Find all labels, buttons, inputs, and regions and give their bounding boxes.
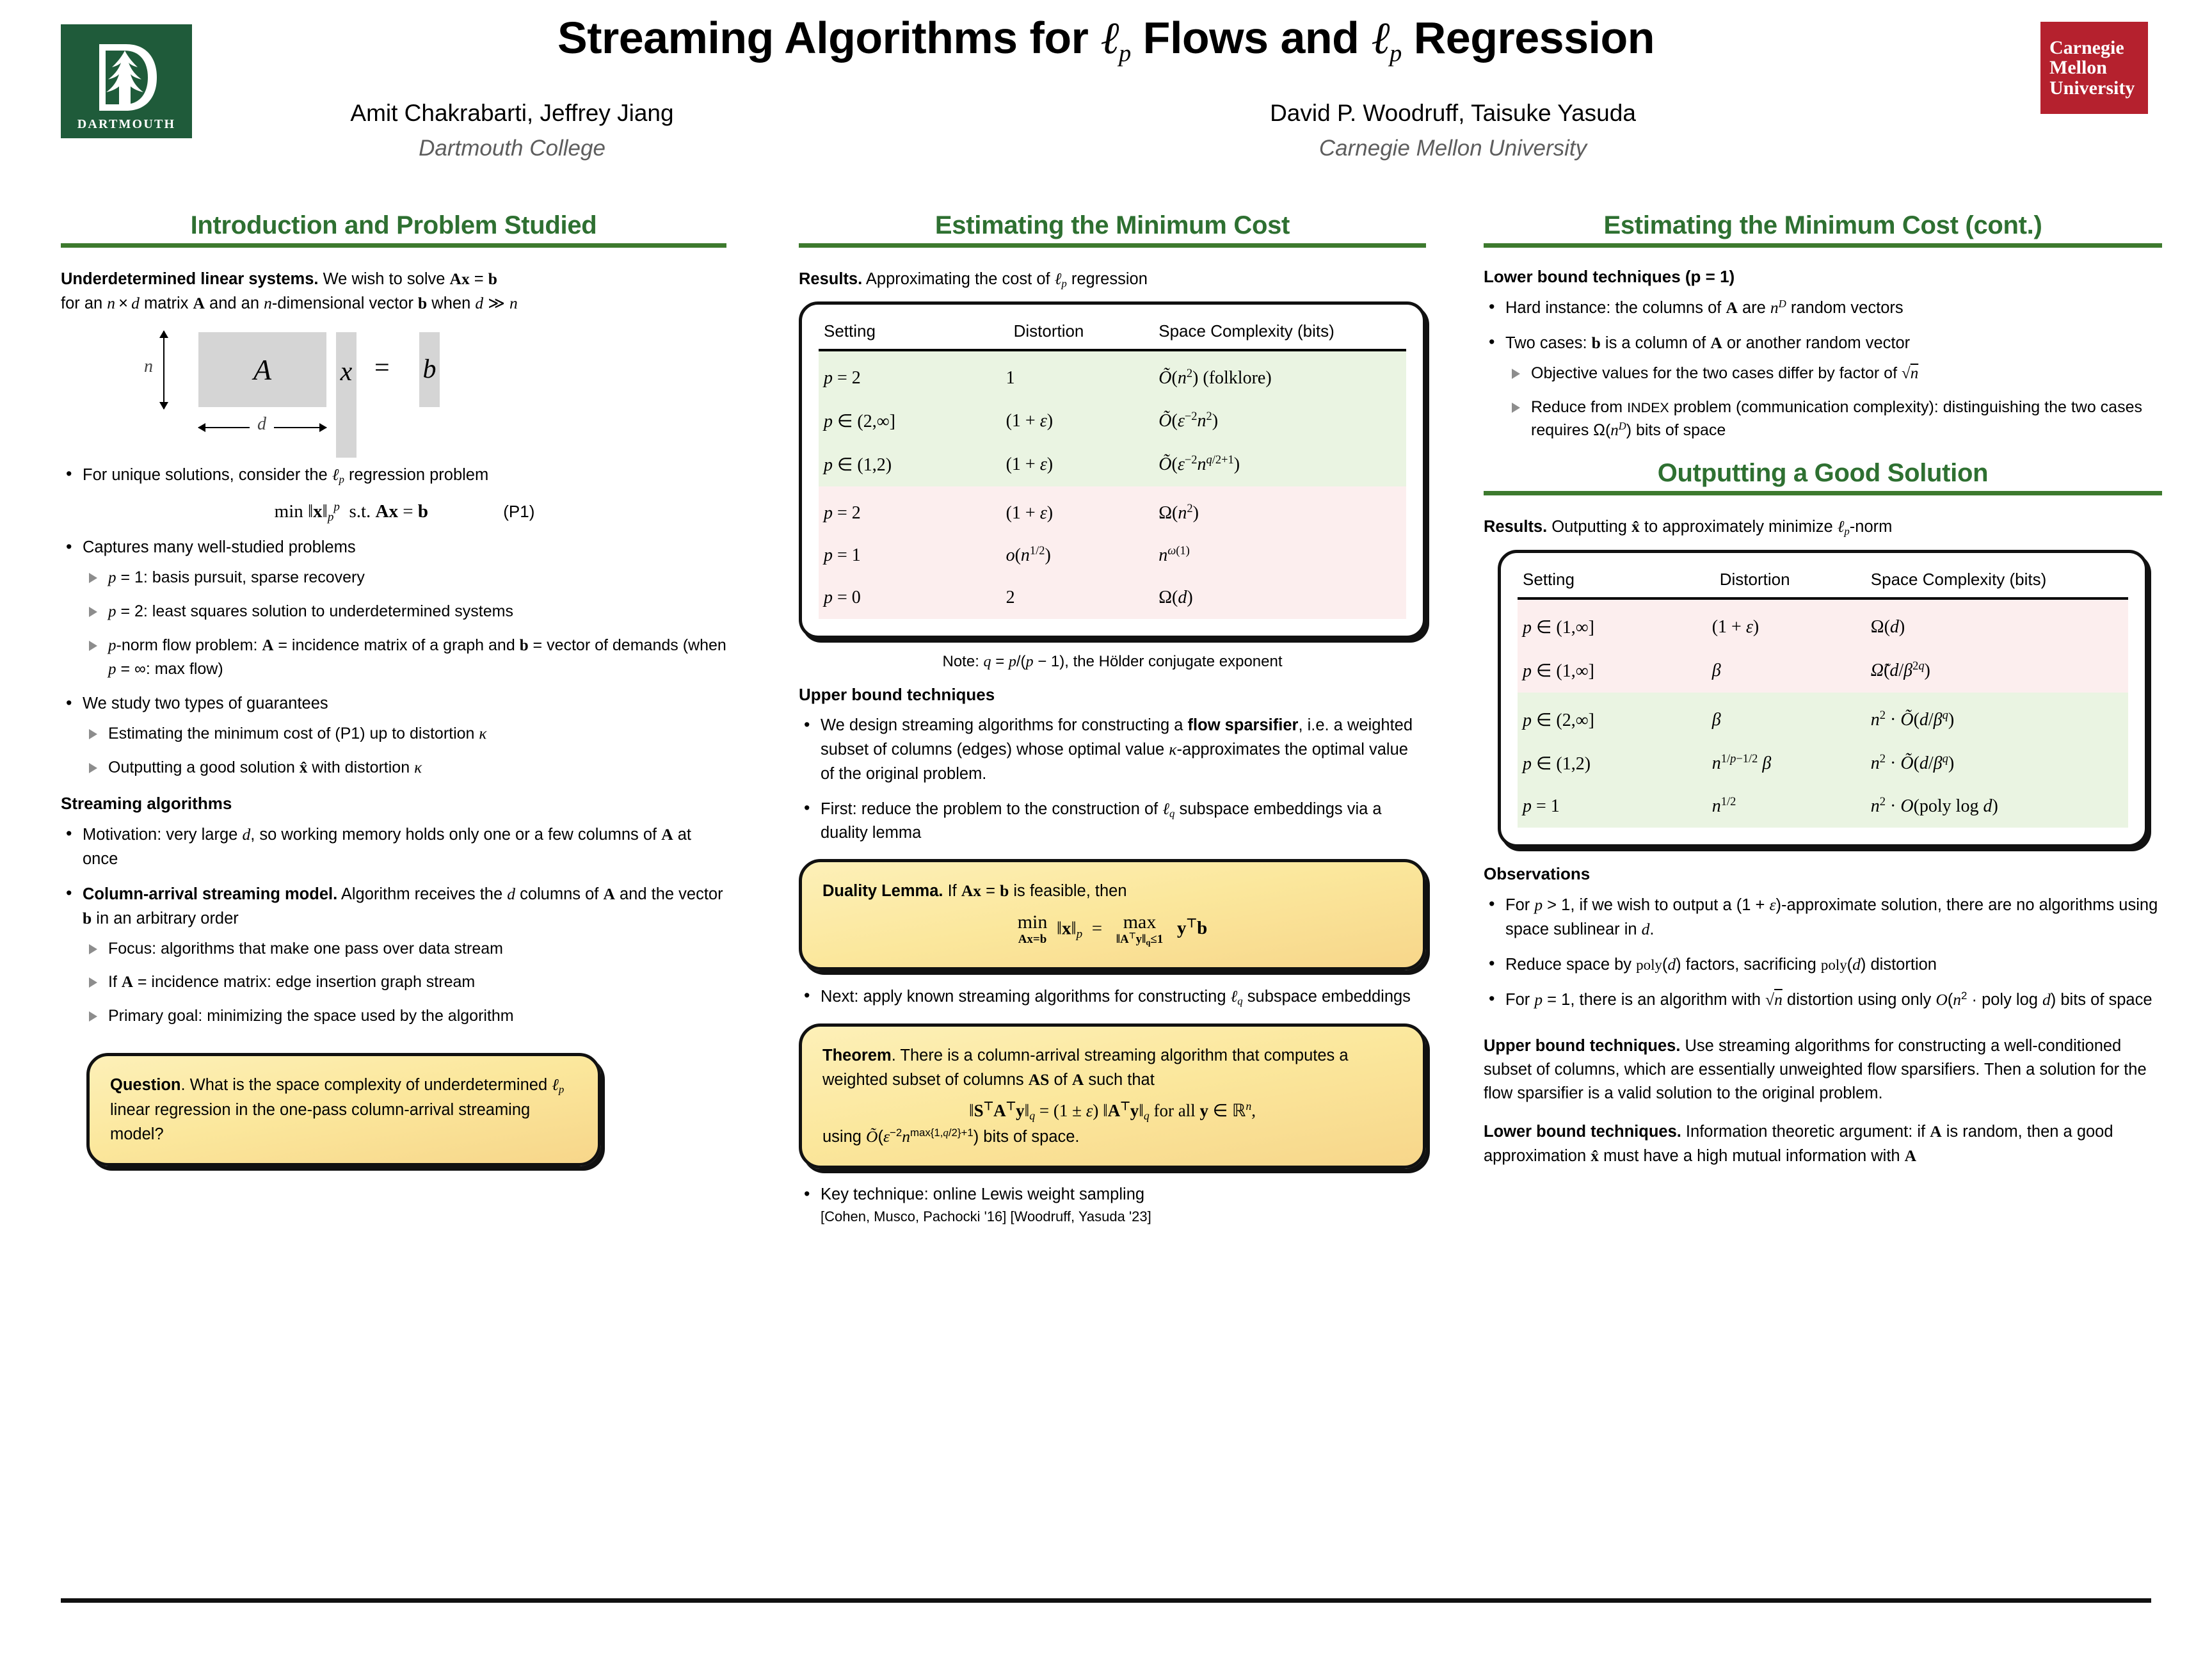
cell-space: n2 · Õ(d/βq) [1866,742,2128,785]
cell-space: Ω(d) [1866,598,2128,649]
paragraph-results-output: Results. Outputting x̂ to approximately … [1484,515,2162,539]
n-dimension-arrow-icon [163,331,164,409]
paragraph-underdetermined: Underdetermined linear systems. We wish … [61,267,726,316]
bullet-captures-label: Captures many well-studied problems [83,538,356,556]
section-rule [1484,491,2162,495]
cell-distortion: 2 [1001,577,1154,619]
callout-question: Question. What is the space complexity o… [86,1053,601,1166]
list-item: We study two types of guarantees Estimat… [61,692,726,780]
column-header-setting: Setting [819,319,1001,350]
table-row: p = 1 n1/2 n2 · O(poly log d) [1518,785,2128,828]
vector-x-label: x [335,357,358,387]
cell-distortion: o(n1/2) [1001,534,1154,577]
cell-space: Ω(n2) [1153,486,1406,534]
label-lower-bound-techniques: Lower bound techniques. [1484,1123,1681,1141]
table-header-row: Setting Distortion Space Complexity (bit… [819,319,1406,350]
column-header-space: Space Complexity (bits) [1866,567,2128,598]
list-item: For unique solutions, consider the ℓp re… [61,463,726,525]
cell-space: Ω̃(d/β2q) [1866,649,2128,693]
paragraph-lower-bound-output: Lower bound techniques. Information theo… [1484,1119,2162,1168]
page-title: Streaming Algorithms for ℓp Flows and ℓp… [0,15,2212,67]
equation-tag-p1: (P1) [503,502,534,521]
cell-space: Õ(ε−2nq/2+1) [1153,443,1406,486]
authors-cmu: David P. Woodruff, Taisuke Yasuda [1114,100,1792,127]
cell-setting: p = 0 [819,577,1001,619]
sublist-model: Focus: algorithms that make one pass ove… [83,937,726,1027]
cell-distortion: n1/2 [1707,785,1866,828]
list-item: Column-arrival streaming model. Algorith… [61,882,726,1027]
cell-distortion: n1/p−1/2 β [1707,742,1866,785]
cell-distortion: β [1707,693,1866,742]
cell-setting: p = 1 [819,534,1001,577]
cell-space: nω(1) [1153,534,1406,577]
d-dimension-label: d [250,414,274,435]
table-row: p ∈ (1,∞] β Ω̃(d/β2q) [1518,649,2128,693]
table-header-row: Setting Distortion Space Complexity (bit… [1518,567,2128,598]
list-item: p-norm flow problem: A = incidence matri… [83,634,726,681]
equation-duality: minAx=b ‖x‖p = max‖A⊤y‖q≤1 y⊤b [822,913,1402,947]
cell-setting: p ∈ (1,∞] [1518,598,1707,649]
cell-setting: p = 2 [819,486,1001,534]
list-item: Next: apply known streaming algorithms f… [799,984,1426,1009]
authors-dartmouth: Amit Chakrabarti, Jeffrey Jiang [211,100,813,127]
theorem-statement: Theorem. There is a column-arrival strea… [822,1043,1402,1093]
cmu-line-3: University [2049,78,2135,98]
column-header-space: Space Complexity (bits) [1153,319,1406,350]
subhead-observations: Observations [1484,864,2162,884]
affiliation-cmu: Carnegie Mellon University [1114,136,1792,161]
n-dimension-label: n [144,357,153,377]
label-column-arrival-model: Column-arrival streaming model. [83,885,337,903]
cell-setting: p ∈ (1,2) [1518,742,1707,785]
cell-space: n2 · Õ(d/βq) [1866,693,2128,742]
section-rule [61,243,726,248]
label-underdetermined: Underdetermined linear systems. [61,270,318,288]
cell-distortion: (1 + ε) [1001,443,1154,486]
list-item: Reduce space by poly(d) factors, sacrifi… [1484,952,2162,977]
results-table-card-output: Setting Distortion Space Complexity (bit… [1498,550,2148,847]
cell-distortion: (1 + ε) [1707,598,1866,649]
label-results: Results. [799,270,862,288]
duality-lemma-statement: Duality Lemma. If Ax = b is feasible, th… [822,879,1402,903]
list-item: Hard instance: the columns of A are nD r… [1484,296,2162,320]
min-operator: minAx=b [1018,913,1048,947]
list-item: p = 1: basis pursuit, sparse recovery [83,566,726,590]
cell-setting: p ∈ (1,2) [819,443,1001,486]
matrix-equation-figure: n A x = b d [61,326,726,454]
list-observations: For p > 1, if we wish to output a (1 + ε… [1484,893,2162,1013]
section-rule [1484,243,2162,248]
list-item: Focus: algorithms that make one pass ove… [83,937,726,960]
author-group-right: David P. Woodruff, Taisuke Yasuda Carneg… [1114,100,1792,161]
callout-theorem: Theorem. There is a column-arrival strea… [799,1023,1426,1169]
cell-setting: p = 2 [819,350,1001,399]
label-question: Question [110,1076,181,1094]
label-upper-bound-techniques: Upper bound techniques. [1484,1037,1680,1055]
cell-space: Õ(ε−2n2) [1153,399,1406,443]
matrix-A-block: A [198,332,326,407]
section-title-estimating-cost: Estimating the Minimum Cost [799,211,1426,239]
section-rule [799,243,1426,248]
dartmouth-wordmark: DARTMOUTH [77,117,176,132]
subhead-lower-bound-techniques: Lower bound techniques (p = 1) [1484,267,2162,287]
results-table-cost: Setting Distortion Space Complexity (bit… [819,319,1406,619]
column-header-setting: Setting [1518,567,1707,598]
paragraph-upper-bound-output: Upper bound techniques. Use streaming al… [1484,1034,2162,1106]
list-unique-solutions: For unique solutions, consider the ℓp re… [61,463,726,525]
callout-duality-lemma: Duality Lemma. If Ax = b is feasible, th… [799,859,1426,970]
sublist-captures: p = 1: basis pursuit, sparse recovery p … [83,566,726,681]
equals-sign: = [374,353,390,383]
bullet-guarantees-label: We study two types of guarantees [83,694,328,712]
vector-b-label: b [417,354,442,385]
section-title-introduction: Introduction and Problem Studied [61,211,726,239]
table-row: p = 2 (1 + ε) Ω(n2) [819,486,1406,534]
cell-setting: p = 1 [1518,785,1707,828]
label-duality-lemma: Duality Lemma. [822,882,943,900]
cell-space: n2 · O(poly log d) [1866,785,2128,828]
list-item: Objective values for the two cases diffe… [1505,362,2162,385]
max-operator: max‖A⊤y‖q≤1 [1116,913,1163,947]
paragraph-results: Results. Approximating the cost of ℓp re… [799,267,1426,291]
question-text: Question. What is the space complexity o… [110,1073,577,1146]
table-row: p ∈ (1,2) (1 + ε) Õ(ε−2nq/2+1) [819,443,1406,486]
cell-space: Ω(d) [1153,577,1406,619]
list-item: For p = 1, there is an algorithm with √n… [1484,988,2162,1012]
cmu-logo: Carnegie Mellon University [2040,22,2148,114]
list-item: For p > 1, if we wish to output a (1 + ε… [1484,893,2162,942]
list-item: Key technique: online Lewis weight sampl… [799,1183,1426,1207]
cell-distortion: (1 + ε) [1001,486,1154,534]
list-key-technique: Key technique: online Lewis weight sampl… [799,1183,1426,1207]
column-outputting-solution: Estimating the Minimum Cost (cont.) Lowe… [1484,211,2162,1179]
subhead-streaming-algorithms: Streaming algorithms [61,794,726,814]
cell-distortion: β [1707,649,1866,693]
key-technique-text: Key technique: online Lewis weight sampl… [821,1185,1144,1203]
author-group-left: Amit Chakrabarti, Jeffrey Jiang Dartmout… [211,100,813,161]
table-row: p = 1 o(n1/2) nω(1) [819,534,1406,577]
poster-columns: Introduction and Problem Studied Underde… [0,211,2212,1568]
column-header-distortion: Distortion [1001,319,1154,350]
table-row: p ∈ (1,2) n1/p−1/2 β n2 · Õ(d/βq) [1518,742,2128,785]
cell-distortion: 1 [1001,350,1154,399]
label-results-output: Results. [1484,518,1547,536]
label-theorem: Theorem [822,1047,892,1064]
list-captures: Captures many well-studied problems p = … [61,536,726,780]
cell-space: Õ(n2) (folklore) [1153,350,1406,399]
list-item: We design streaming algorithms for const… [799,714,1426,786]
list-item: First: reduce the problem to the constru… [799,797,1426,845]
table-note-holder: Note: q = p/(p − 1), the Hölder conjugat… [799,653,1426,671]
cell-setting: p ∈ (1,∞] [1518,649,1707,693]
table-row: p = 0 2 Ω(d) [819,577,1406,619]
list-item: Two cases: b is a column of A or another… [1484,331,2162,442]
list-item: Captures many well-studied problems p = … [61,536,726,681]
table-row: p = 2 1 Õ(n2) (folklore) [819,350,1406,399]
affiliation-dartmouth: Dartmouth College [211,136,813,161]
results-table-output: Setting Distortion Space Complexity (bit… [1518,567,2128,828]
list-item: Estimating the minimum cost of (P1) up t… [83,722,726,746]
vector-x-block [336,332,357,458]
list-streaming: Motivation: very large d, so working mem… [61,822,726,1027]
subhead-upper-bound-techniques: Upper bound techniques [799,685,1426,705]
column-estimating-cost: Estimating the Minimum Cost Results. App… [799,211,1426,1225]
section-title-estimating-cost-cont: Estimating the Minimum Cost (cont.) [1484,211,2162,239]
column-introduction: Introduction and Problem Studied Underde… [61,211,726,1166]
label-flow-sparsifier: flow sparsifier [1188,716,1299,734]
list-lower-techniques: Hard instance: the columns of A are nD r… [1484,296,2162,442]
list-item: Reduce from INDEX problem (communication… [1505,396,2162,442]
bottom-divider [61,1598,2151,1603]
list-next-step: Next: apply known streaming algorithms f… [799,984,1426,1009]
list-item: If A = incidence matrix: edge insertion … [83,970,726,994]
sublist-guarantees: Estimating the minimum cost of (P1) up t… [83,722,726,780]
poster-header: DARTMOUTH Streaming Algorithms for ℓp Fl… [0,0,2212,205]
cell-setting: p ∈ (2,∞] [819,399,1001,443]
cell-setting: p ∈ (2,∞] [1518,693,1707,742]
references-line: [Cohen, Musco, Pachocki '16] [Woodruff, … [821,1208,1426,1225]
section-title-outputting-good-solution: Outputting a Good Solution [1484,459,2162,487]
list-item: Primary goal: minimizing the space used … [83,1004,726,1027]
list-upper-techniques: We design streaming algorithms for const… [799,714,1426,845]
table-row: p ∈ (2,∞] β n2 · Õ(d/βq) [1518,693,2128,742]
equation-p1: min ‖x‖pp s.t. Ax = b (P1) [83,498,726,525]
list-item: Motivation: very large d, so working mem… [61,822,726,871]
cmu-line-1: Carnegie [2049,38,2124,58]
list-item: p = 2: least squares solution to underde… [83,600,726,623]
sublist-lower: Objective values for the two cases diffe… [1505,362,2162,442]
theorem-space-bound: using Õ(ε−2nmax{1,q/2}+1) bits of space. [822,1125,1402,1149]
cell-distortion: (1 + ε) [1001,399,1154,443]
poster-root: DARTMOUTH Streaming Algorithms for ℓp Fl… [0,0,2212,1661]
list-item: Outputting a good solution x̂ with disto… [83,756,726,780]
equation-theorem: ‖S⊤A⊤y‖q = (1 ± ε) ‖A⊤y‖q for all y ∈ ℝn… [822,1101,1402,1121]
results-table-card-cost: Setting Distortion Space Complexity (bit… [799,301,1426,639]
cmu-line-2: Mellon [2049,58,2107,77]
table-row: p ∈ (2,∞] (1 + ε) Õ(ε−2n2) [819,399,1406,443]
column-header-distortion: Distortion [1707,567,1866,598]
table-row: p ∈ (1,∞] (1 + ε) Ω(d) [1518,598,2128,649]
